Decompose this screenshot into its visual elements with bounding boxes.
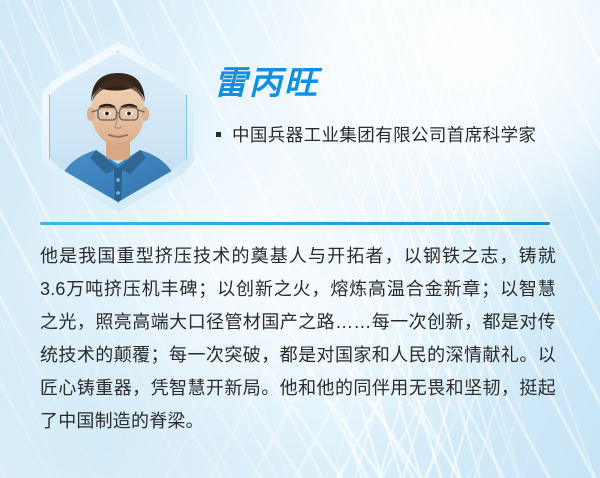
biography-text: 他是我国重型挤压技术的奠基人与开拓者，以钢铁之志，铸就3.6万吨挤压机丰碑；以创… (40, 240, 556, 438)
name-block: 雷丙旺 中国兵器工业集团有限公司首席科学家 (214, 66, 564, 149)
person-name: 雷丙旺 (214, 66, 564, 99)
bullet-icon (216, 132, 221, 137)
profile-card: 雷丙旺 中国兵器工业集团有限公司首席科学家 他是我国重型挤压技术的奠基人与开拓者… (0, 0, 600, 478)
profile-header: 雷丙旺 中国兵器工业集团有限公司首席科学家 (0, 0, 600, 215)
person-title-row: 中国兵器工业集团有限公司首席科学家 (214, 121, 564, 149)
section-divider (40, 222, 550, 225)
person-title: 中国兵器工业集团有限公司首席科学家 (232, 121, 536, 149)
portrait-frame (42, 42, 194, 212)
